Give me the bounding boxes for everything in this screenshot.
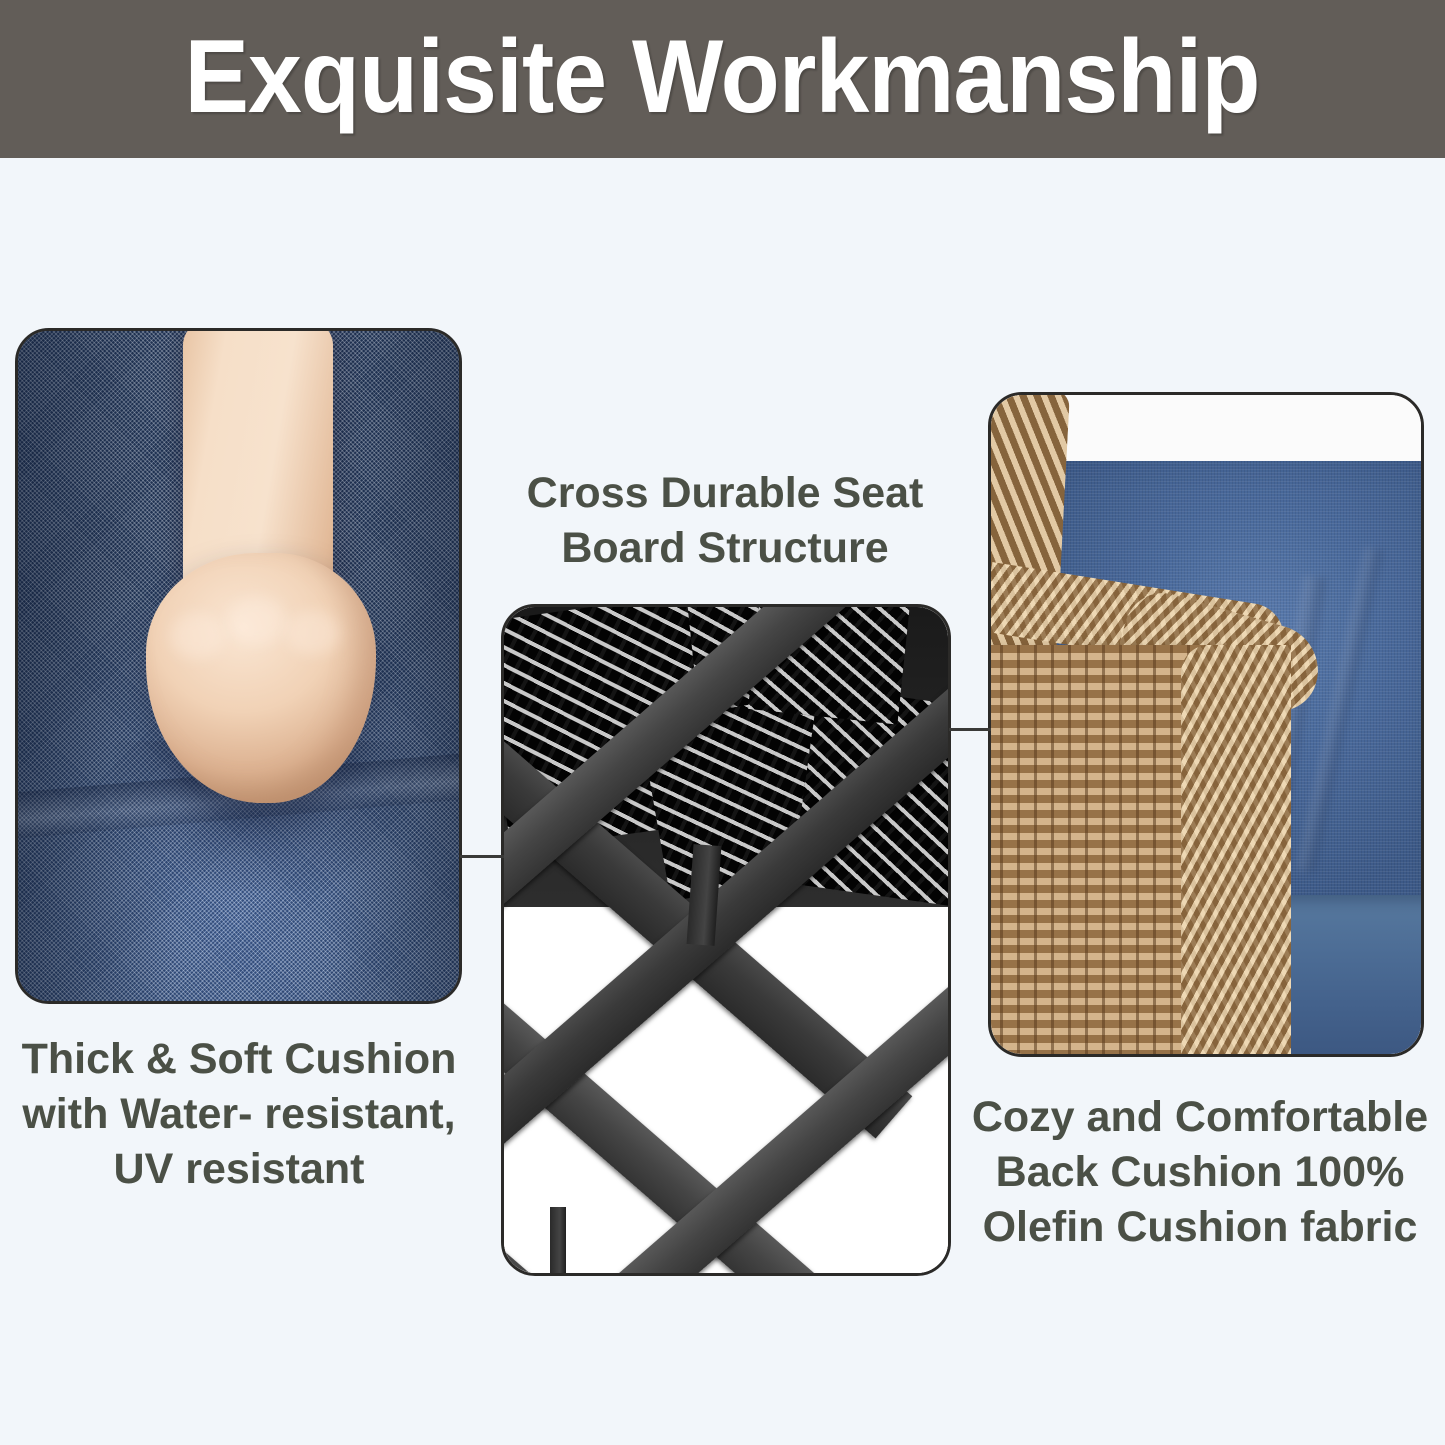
blue-cushion-fist-photo bbox=[15, 328, 462, 1004]
caption-cushion: Thick & Soft Cushion with Water- resista… bbox=[0, 1032, 480, 1197]
page-title: Exquisite Workmanship bbox=[185, 25, 1260, 129]
knuckle-highlight bbox=[286, 611, 340, 655]
knuckle-highlight bbox=[228, 597, 286, 645]
wicker-back-cushion-photo bbox=[988, 392, 1424, 1057]
support-leg bbox=[550, 1207, 566, 1276]
caption-back-cushion: Cozy and Comfortable Back Cushion 100% O… bbox=[955, 1090, 1445, 1255]
line-cushion-to-lattice bbox=[460, 855, 504, 858]
caption-lattice: Cross Durable Seat Board Structure bbox=[470, 466, 980, 576]
knuckle-highlight bbox=[170, 613, 224, 659]
seat-cushion bbox=[1271, 895, 1424, 1057]
cross-lattice-seat-board-photo bbox=[501, 604, 951, 1276]
wicker-arm-front-edge bbox=[1181, 645, 1291, 1057]
header-banner: Exquisite Workmanship bbox=[0, 0, 1445, 158]
infographic-page: Exquisite Workmanship bbox=[0, 0, 1445, 1445]
line-lattice-to-wicker bbox=[949, 728, 991, 731]
